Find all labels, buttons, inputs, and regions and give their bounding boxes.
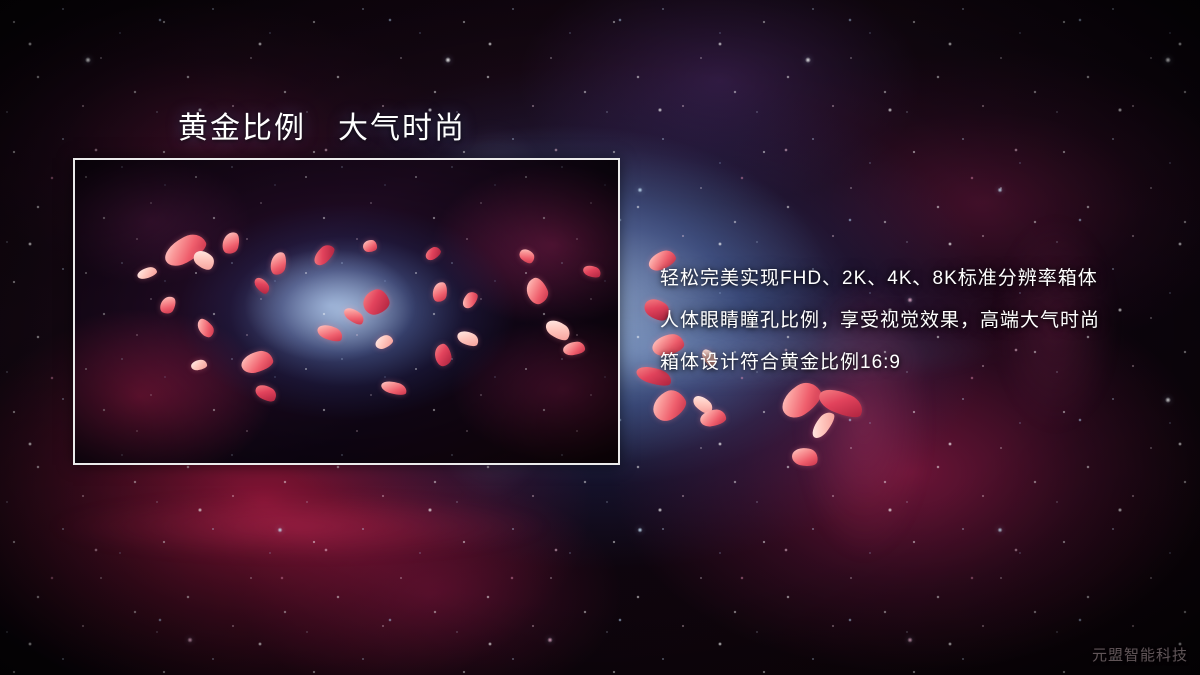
description-line-3: 箱体设计符合黄金比例16:9 <box>660 342 1160 384</box>
feature-description: 轻松完美实现FHD、2K、4K、8K标准分辨率箱体 人体眼睛瞳孔比例，享受视觉效… <box>660 258 1160 384</box>
page-title: 黄金比例 大气时尚 <box>178 103 466 147</box>
description-line-1: 轻松完美实现FHD、2K、4K、8K标准分辨率箱体 <box>660 258 1160 300</box>
petal-icon <box>363 240 377 252</box>
brand-watermark: 元盟智能科技 <box>1092 644 1188 665</box>
presentation-slide: 黄金比例 大气时尚 轻松完美实现FHD、2K、4K、8K标准分辨率箱体 人体眼睛… <box>0 0 1200 675</box>
image-frame <box>73 158 620 465</box>
description-line-2: 人体眼睛瞳孔比例，享受视觉效果，高端大气时尚 <box>660 300 1160 342</box>
